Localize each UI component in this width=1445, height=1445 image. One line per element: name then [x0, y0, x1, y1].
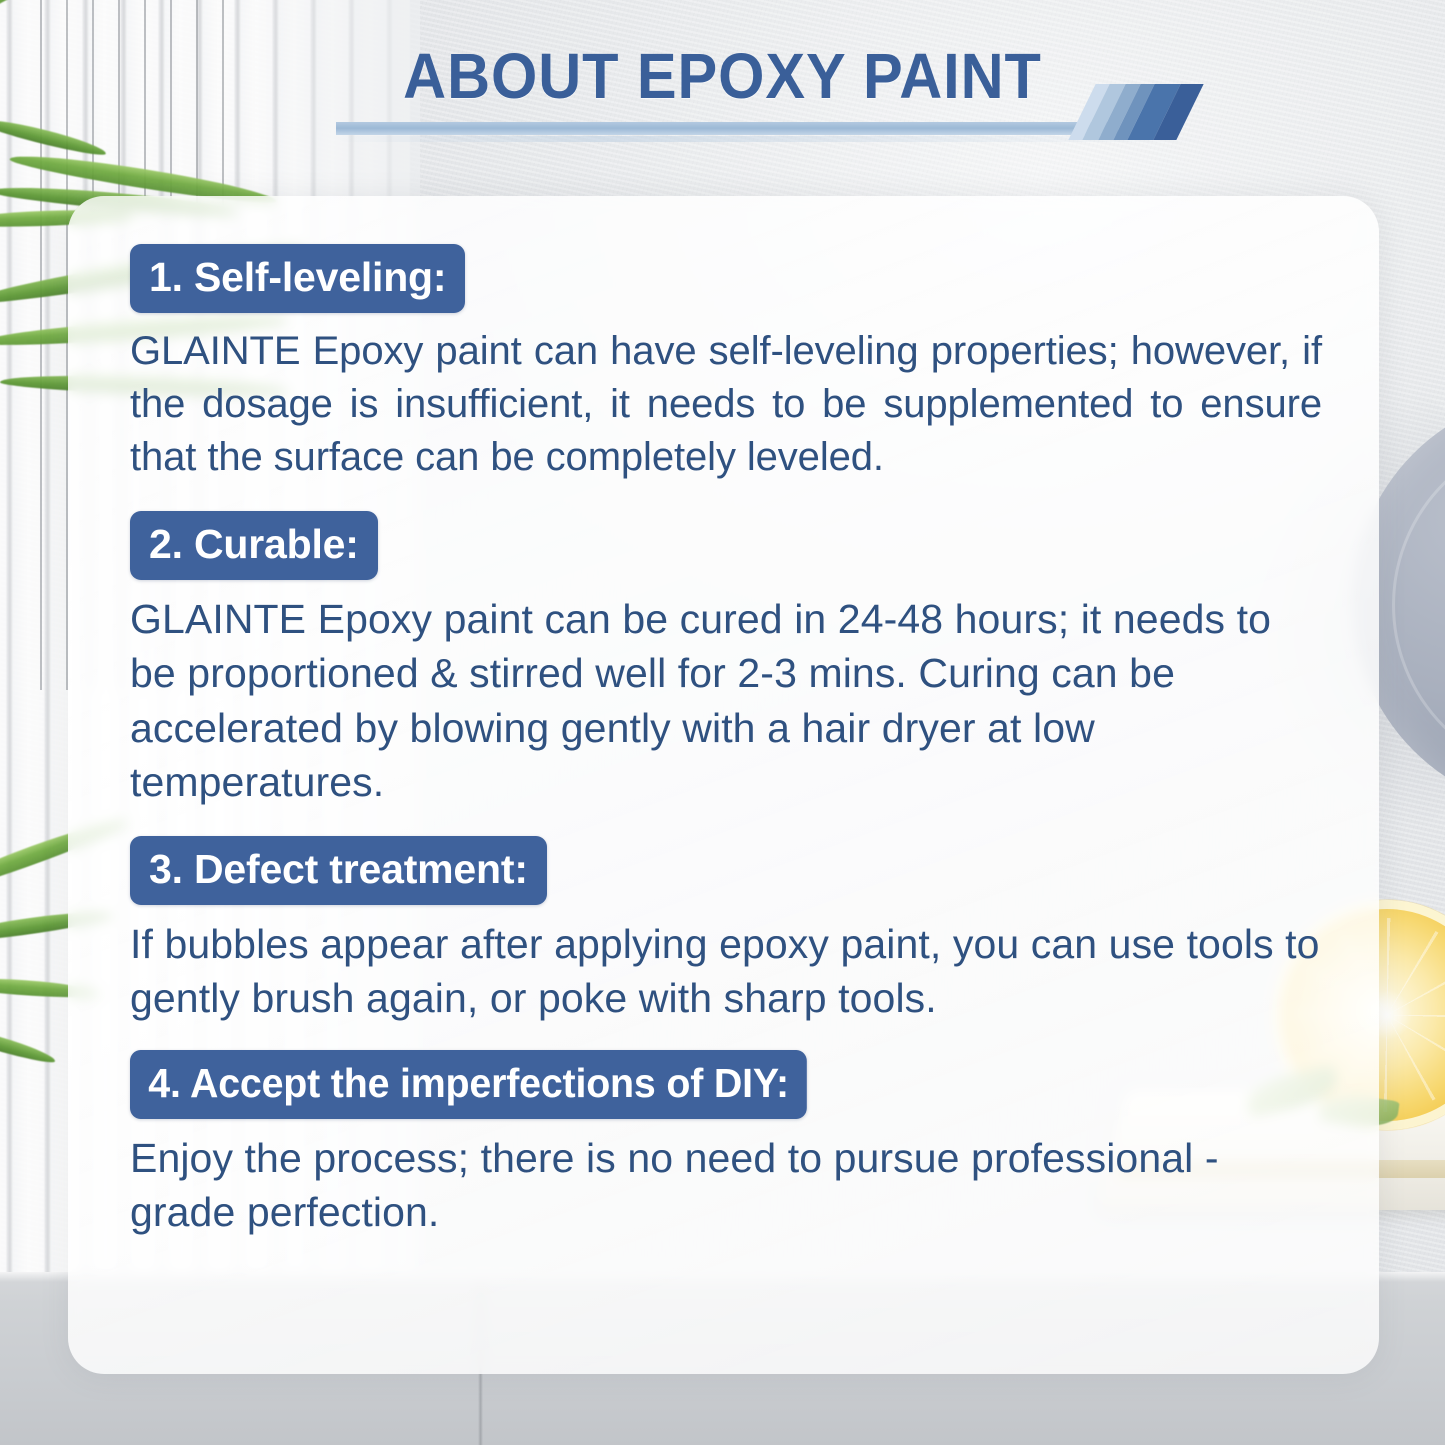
section-body-3: If bubbles appear after applying epoxy p… — [130, 917, 1322, 1026]
infographic-canvas: ABOUT EPOXY PAINT 1. Self-leveling: GLAI… — [0, 0, 1445, 1445]
section-accept-imperfections: 4. Accept the imperfections of DIY: Enjo… — [130, 1050, 1325, 1240]
section-body-1: GLAINTE Epoxy paint can have self-leveli… — [130, 325, 1322, 485]
section-self-leveling: 1. Self-leveling: GLAINTE Epoxy paint ca… — [130, 244, 1325, 485]
header: ABOUT EPOXY PAINT — [0, 44, 1445, 108]
section-defect-treatment: 3. Defect treatment: If bubbles appear a… — [130, 836, 1325, 1026]
section-body-2: GLAINTE Epoxy paint can be cured in 24-4… — [130, 592, 1322, 810]
title-underline-bar — [336, 122, 1118, 135]
section-body-4: Enjoy the process; there is no need to p… — [130, 1131, 1322, 1240]
section-curable: 2. Curable: GLAINTE Epoxy paint can be c… — [130, 511, 1325, 810]
section-badge-4: 4. Accept the imperfections of DIY: — [130, 1050, 807, 1119]
section-badge-3: 3. Defect treatment: — [130, 836, 547, 905]
section-badge-2: 2. Curable: — [130, 511, 378, 580]
content-sections: 1. Self-leveling: GLAINTE Epoxy paint ca… — [130, 244, 1325, 1246]
section-badge-1: 1. Self-leveling: — [130, 244, 465, 313]
